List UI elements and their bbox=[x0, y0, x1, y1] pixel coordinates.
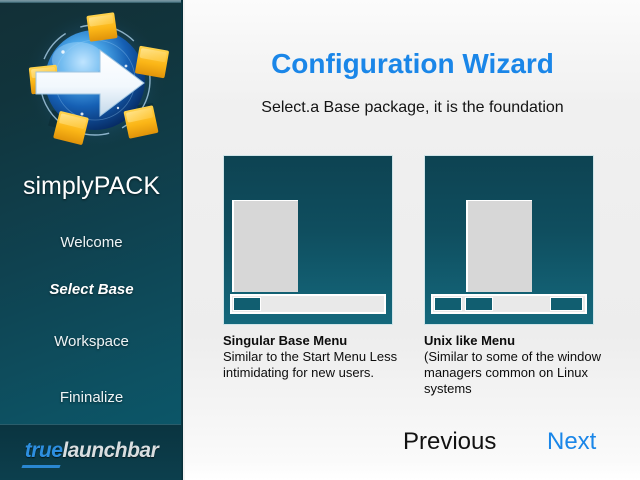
preview-taskbar-button bbox=[550, 297, 583, 311]
simplypack-logo-icon bbox=[14, 8, 176, 158]
configuration-wizard-window: simplyPACK Welcome Select Base Workspace… bbox=[0, 0, 640, 480]
preview-taskbar-button bbox=[434, 297, 462, 311]
sidebar: simplyPACK Welcome Select Base Workspace… bbox=[0, 0, 183, 480]
base-option-unix[interactable]: Unix like Menu (Similar to some of the w… bbox=[424, 155, 596, 325]
sidebar-item-fininalize[interactable]: Fininalize bbox=[0, 389, 183, 406]
base-option-description: Similar to the Start Menu Less intimidat… bbox=[223, 349, 413, 381]
truelaunchbar-logo-underline bbox=[21, 465, 60, 468]
preview-menu-panel bbox=[466, 200, 532, 292]
next-button[interactable]: Next bbox=[547, 428, 596, 456]
truelaunchbar-logo-true: true bbox=[25, 439, 63, 462]
preview-taskbar-button bbox=[465, 297, 493, 311]
preview-unix-like-menu[interactable] bbox=[424, 155, 594, 325]
base-option-heading: Singular Base Menu bbox=[223, 333, 347, 348]
preview-taskbar-button bbox=[233, 297, 261, 311]
brand-name: simplyPACK bbox=[0, 172, 183, 201]
preview-taskbar bbox=[431, 294, 587, 314]
main-content: Configuration Wizard Select.a Base packa… bbox=[185, 0, 640, 480]
truelaunchbar-logo-launchbar: launchbar bbox=[62, 439, 158, 462]
sidebar-right-edge bbox=[181, 0, 183, 480]
sidebar-item-workspace[interactable]: Workspace bbox=[0, 333, 183, 350]
base-option-heading: Unix like Menu bbox=[424, 333, 515, 348]
page-title: Configuration Wizard bbox=[185, 48, 640, 80]
page-subtitle: Select.a Base package, it is the foundat… bbox=[185, 99, 640, 117]
sidebar-item-select-base[interactable]: Select Base bbox=[0, 281, 183, 298]
base-option-description: (Similar to some of the window managers … bbox=[424, 349, 614, 397]
preview-taskbar bbox=[230, 294, 386, 314]
base-option-singular[interactable]: Singular Base Menu Similar to the Start … bbox=[223, 155, 395, 325]
sidebar-item-welcome[interactable]: Welcome bbox=[0, 234, 183, 251]
sidebar-footer: truelaunchbar bbox=[0, 424, 183, 480]
preview-menu-panel bbox=[232, 200, 298, 292]
previous-button[interactable]: Previous bbox=[403, 428, 496, 456]
sidebar-top-highlight bbox=[0, 0, 183, 3]
truelaunchbar-logo: truelaunchbar bbox=[0, 439, 183, 463]
preview-singular-base-menu[interactable] bbox=[223, 155, 393, 325]
